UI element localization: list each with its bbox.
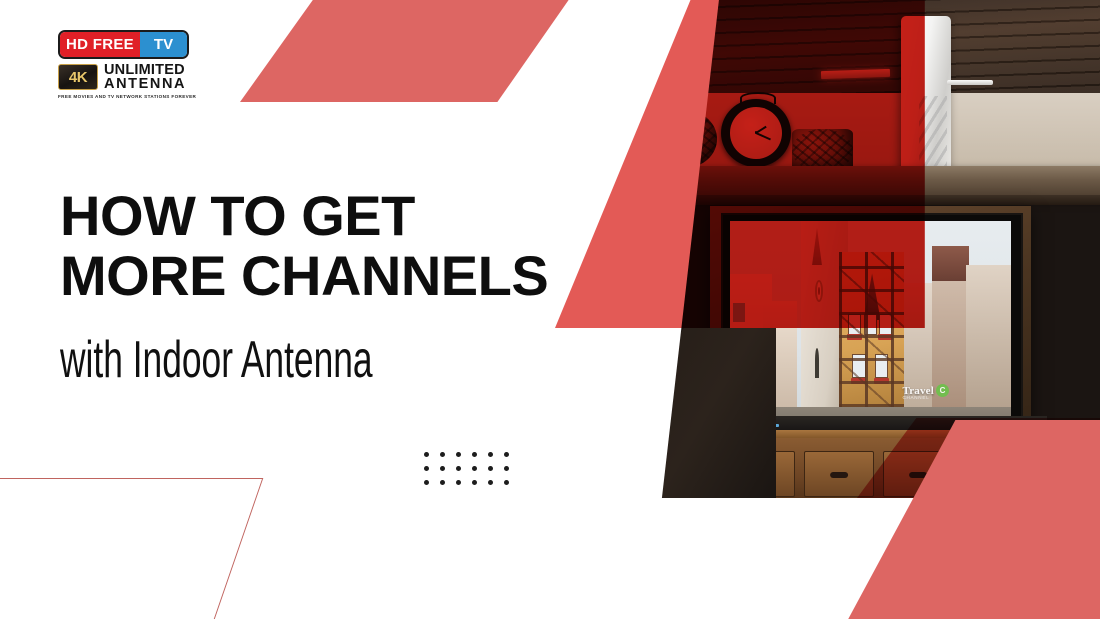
antenna-rod (947, 80, 993, 85)
travel-channel-badge-icon: C (936, 384, 949, 397)
dot (456, 466, 461, 471)
brand-pill: HD FREE TV (58, 30, 189, 59)
scene-building-right-3 (966, 265, 1011, 407)
dot (440, 480, 445, 485)
dot (424, 480, 429, 485)
dot (488, 480, 493, 485)
dot (488, 452, 493, 457)
decor-dark-wedge (575, 328, 776, 498)
decor-dot-grid (424, 452, 520, 494)
scene-window (875, 354, 889, 378)
drawer-handle-icon (830, 472, 848, 478)
brand-wordmark: UNLIMITED ANTENNA (104, 63, 186, 91)
dot (424, 466, 429, 471)
dot (424, 452, 429, 457)
dot (456, 452, 461, 457)
dot (440, 452, 445, 457)
dot (456, 480, 461, 485)
scene-flower-box (878, 334, 893, 340)
brand-4k-badge: 4K (58, 64, 98, 90)
decor-outline-parallelogram-left (0, 478, 263, 619)
scene-tower-archway (815, 348, 820, 378)
brand-tagline: FREE MOVIES AND TV NETWORK STATIONS FORE… (58, 94, 194, 99)
brand-logo[interactable]: HD FREE TV 4K UNLIMITED ANTENNA FREE MOV… (58, 30, 194, 99)
scene-window (852, 354, 866, 378)
headline-line-1: HOW TO GET (60, 186, 580, 246)
decor-top-parallelogram (240, 0, 570, 102)
travel-channel-sublabel: CHANNEL (902, 395, 929, 400)
dot (504, 466, 509, 471)
brand-word-antenna: ANTENNA (104, 77, 186, 91)
brand-subrow: 4K UNLIMITED ANTENNA (58, 63, 194, 91)
brand-pill-tv: TV (140, 32, 187, 57)
headline-block: HOW TO GET MORE CHANNELS (60, 186, 580, 307)
dot (472, 452, 477, 457)
brand-word-unlimited: UNLIMITED (104, 63, 186, 77)
headline-subtitle: with Indoor Antenna (60, 334, 373, 386)
dot (440, 466, 445, 471)
brand-pill-hd-free: HD FREE (60, 32, 140, 57)
dot (472, 480, 477, 485)
dot (504, 452, 509, 457)
scene-flower-box (874, 378, 890, 384)
banner-canvas: Travel C CHANNEL (0, 0, 1100, 619)
scene-flower-box (847, 334, 862, 340)
travel-channel-watermark: Travel C CHANNEL (902, 384, 949, 397)
dot (488, 466, 493, 471)
dot (504, 480, 509, 485)
scene-flower-box (851, 378, 867, 384)
dot (472, 466, 477, 471)
headline-line-2: MORE CHANNELS (60, 246, 580, 306)
